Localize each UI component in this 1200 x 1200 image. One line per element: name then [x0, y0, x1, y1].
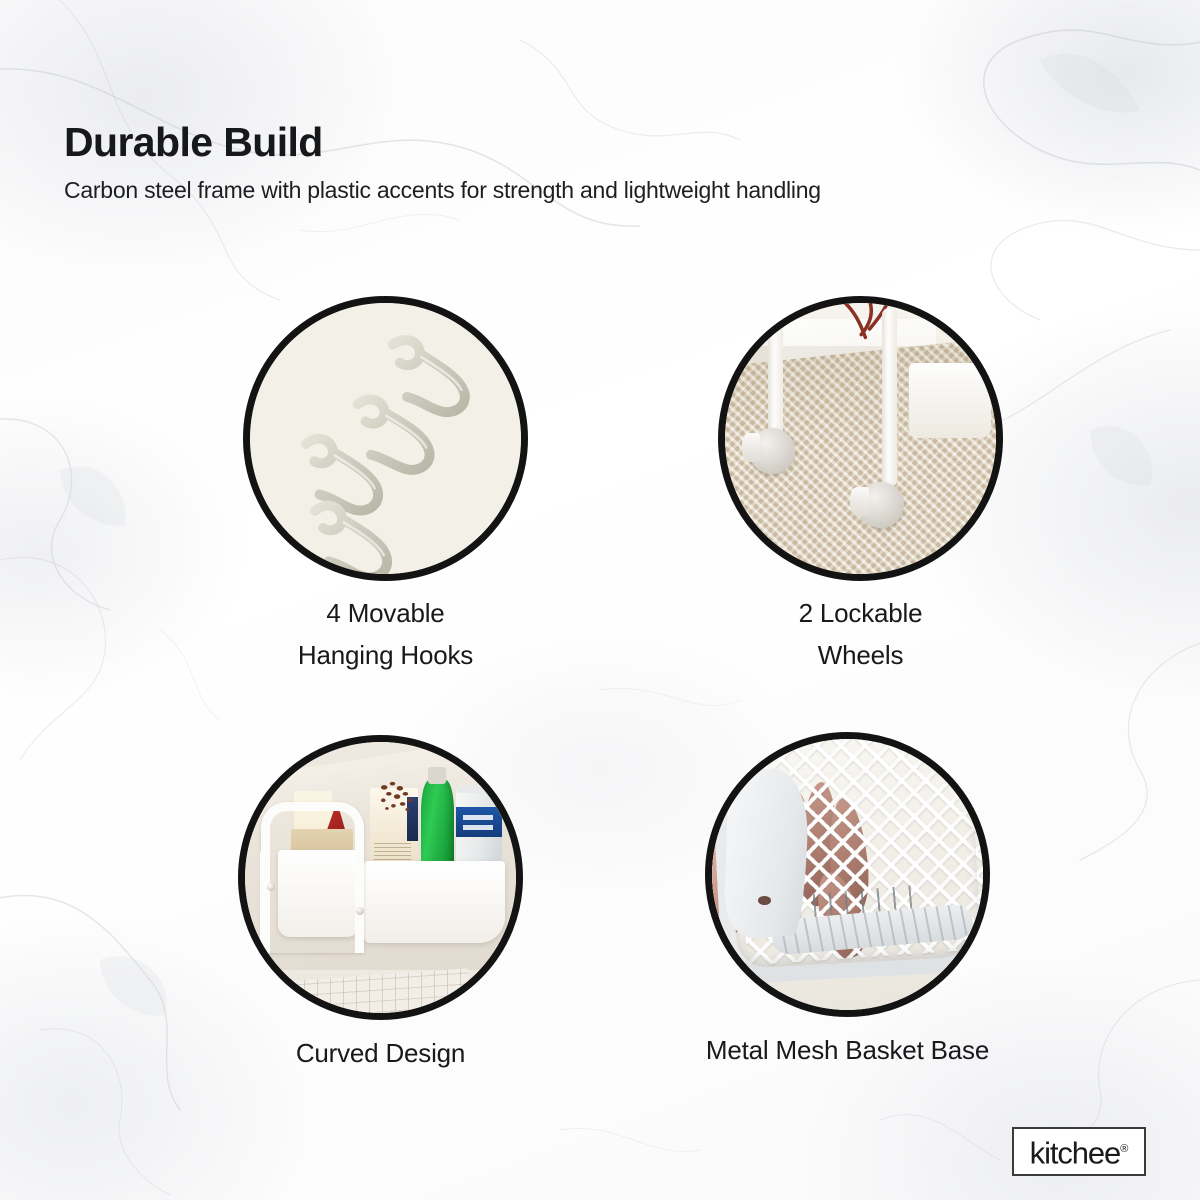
- basket-side-panel: [723, 766, 810, 941]
- cocoa-flakes-graphic: [375, 780, 421, 818]
- caster-hub: [850, 487, 868, 516]
- feature-image-lockable-wheels: [718, 296, 1003, 581]
- mesh-basket-photo: [712, 739, 983, 1010]
- caster-wheel-front: [749, 428, 795, 474]
- hooks-photo: [250, 303, 521, 574]
- curved-handle: [261, 802, 364, 954]
- feature-grid: 4 Movable Hanging Hooks: [0, 0, 1200, 1200]
- feature-caption-curved-design: Curved Design: [238, 1032, 523, 1074]
- cart-leg-left: [768, 325, 783, 439]
- feature-caption-lockable-wheels: 2 Lockable Wheels: [718, 592, 1003, 676]
- can-blue-label: [456, 807, 502, 836]
- bottle-cap: [428, 767, 446, 784]
- green-bottle: [421, 780, 454, 872]
- caption-line-1: Metal Mesh Basket Base: [645, 1029, 1050, 1071]
- brand-logo: kitchee®: [1012, 1127, 1146, 1176]
- basket-drain-hole: [758, 896, 770, 905]
- caption-line-2: Wheels: [718, 634, 1003, 676]
- caster-wheel-back: [858, 482, 904, 528]
- caption-line-1: 4 Movable: [243, 592, 528, 634]
- cart-leg-right: [882, 308, 897, 487]
- can-lid: [457, 785, 501, 794]
- brand-logo-text: kitchee®: [1030, 1134, 1129, 1168]
- feature-caption-mesh-basket-base: Metal Mesh Basket Base: [645, 1029, 1050, 1071]
- caption-line-2: Hanging Hooks: [243, 634, 528, 676]
- cart-side-bin: [909, 363, 990, 439]
- brand-name: kitchee: [1030, 1136, 1121, 1171]
- trademark-symbol: ®: [1120, 1143, 1128, 1155]
- feature-caption-hanging-hooks: 4 Movable Hanging Hooks: [243, 592, 528, 676]
- feature-image-mesh-basket-base: [705, 732, 990, 1017]
- feature-image-hanging-hooks: [243, 296, 528, 581]
- caster-hub: [742, 433, 760, 462]
- curved-design-photo: [245, 742, 516, 1013]
- feature-image-curved-design: [238, 735, 523, 1020]
- caption-line-1: Curved Design: [238, 1032, 523, 1074]
- frame-rivet: [267, 883, 275, 891]
- wheels-photo: [725, 303, 996, 574]
- caption-line-1: 2 Lockable: [718, 592, 1003, 634]
- infographic-page: Durable Build Carbon steel frame with pl…: [0, 0, 1200, 1200]
- cart-basket-right: [364, 861, 505, 942]
